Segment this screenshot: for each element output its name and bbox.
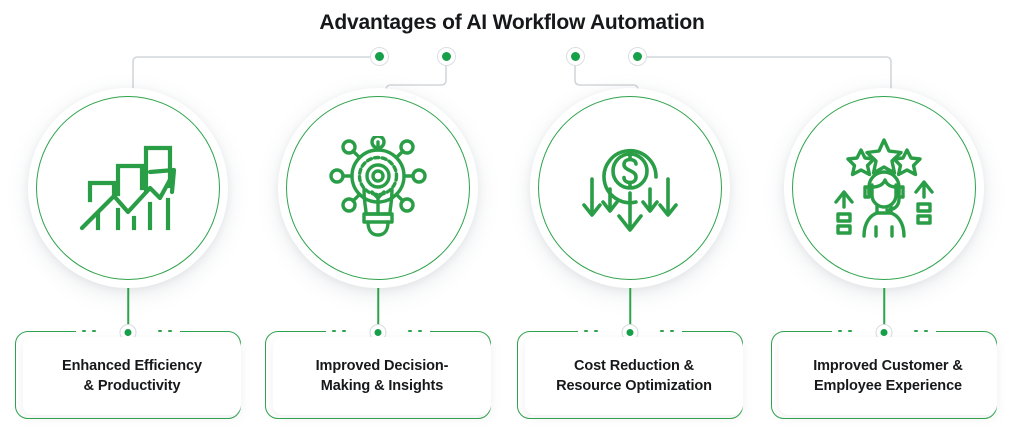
- icon-circle-3[interactable]: [530, 88, 730, 288]
- card-cost-reduction[interactable]: Cost Reduction & Resource Optimization: [517, 331, 743, 419]
- lightbulb-gear-network-icon: [328, 136, 428, 240]
- card-dot-1-core: [125, 329, 132, 336]
- card-label-enhanced-efficiency: Enhanced Efficiency & Productivity: [62, 356, 202, 396]
- card-improved-customer-experience[interactable]: Improved Customer & Employee Experience: [771, 331, 997, 419]
- card-inner-4: Improved Customer & Employee Experience: [779, 337, 997, 415]
- card-dot-2-core: [375, 329, 382, 336]
- infographic-root: Advantages of AI Workflow Automation: [0, 0, 1024, 434]
- card-dot-3-core: [627, 329, 634, 336]
- growth-bar-chart-arrow-icon: [76, 138, 180, 238]
- card-label-cost-reduction: Cost Reduction & Resource Optimization: [556, 356, 712, 396]
- column-improved-decision-making: Improved Decision- Making & Insights: [250, 0, 506, 434]
- icon-circle-3-ring: [538, 96, 722, 280]
- customer-agent-stars-icon: [831, 137, 937, 239]
- icon-circle-2-ring: [286, 96, 470, 280]
- card-inner-3: Cost Reduction & Resource Optimization: [525, 337, 743, 415]
- dollar-coin-down-arrows-icon: [578, 137, 682, 239]
- card-label-improved-customer-experience: Improved Customer & Employee Experience: [813, 356, 963, 396]
- column-cost-reduction: Cost Reduction & Resource Optimization: [502, 0, 758, 434]
- column-improved-customer-experience: Improved Customer & Employee Experience: [756, 0, 1012, 434]
- column-enhanced-efficiency: Enhanced Efficiency & Productivity: [0, 0, 256, 434]
- card-dot-4-core: [881, 329, 888, 336]
- icon-circle-1[interactable]: [28, 88, 228, 288]
- card-improved-decision-making[interactable]: Improved Decision- Making & Insights: [265, 331, 491, 419]
- icon-circle-4-ring: [792, 96, 976, 280]
- card-inner-2: Improved Decision- Making & Insights: [273, 337, 491, 415]
- icon-circle-1-ring: [36, 96, 220, 280]
- icon-circle-2[interactable]: [278, 88, 478, 288]
- card-label-improved-decision-making: Improved Decision- Making & Insights: [316, 356, 449, 396]
- card-inner-1: Enhanced Efficiency & Productivity: [23, 337, 241, 415]
- icon-circle-4[interactable]: [784, 88, 984, 288]
- card-enhanced-efficiency[interactable]: Enhanced Efficiency & Productivity: [15, 331, 241, 419]
